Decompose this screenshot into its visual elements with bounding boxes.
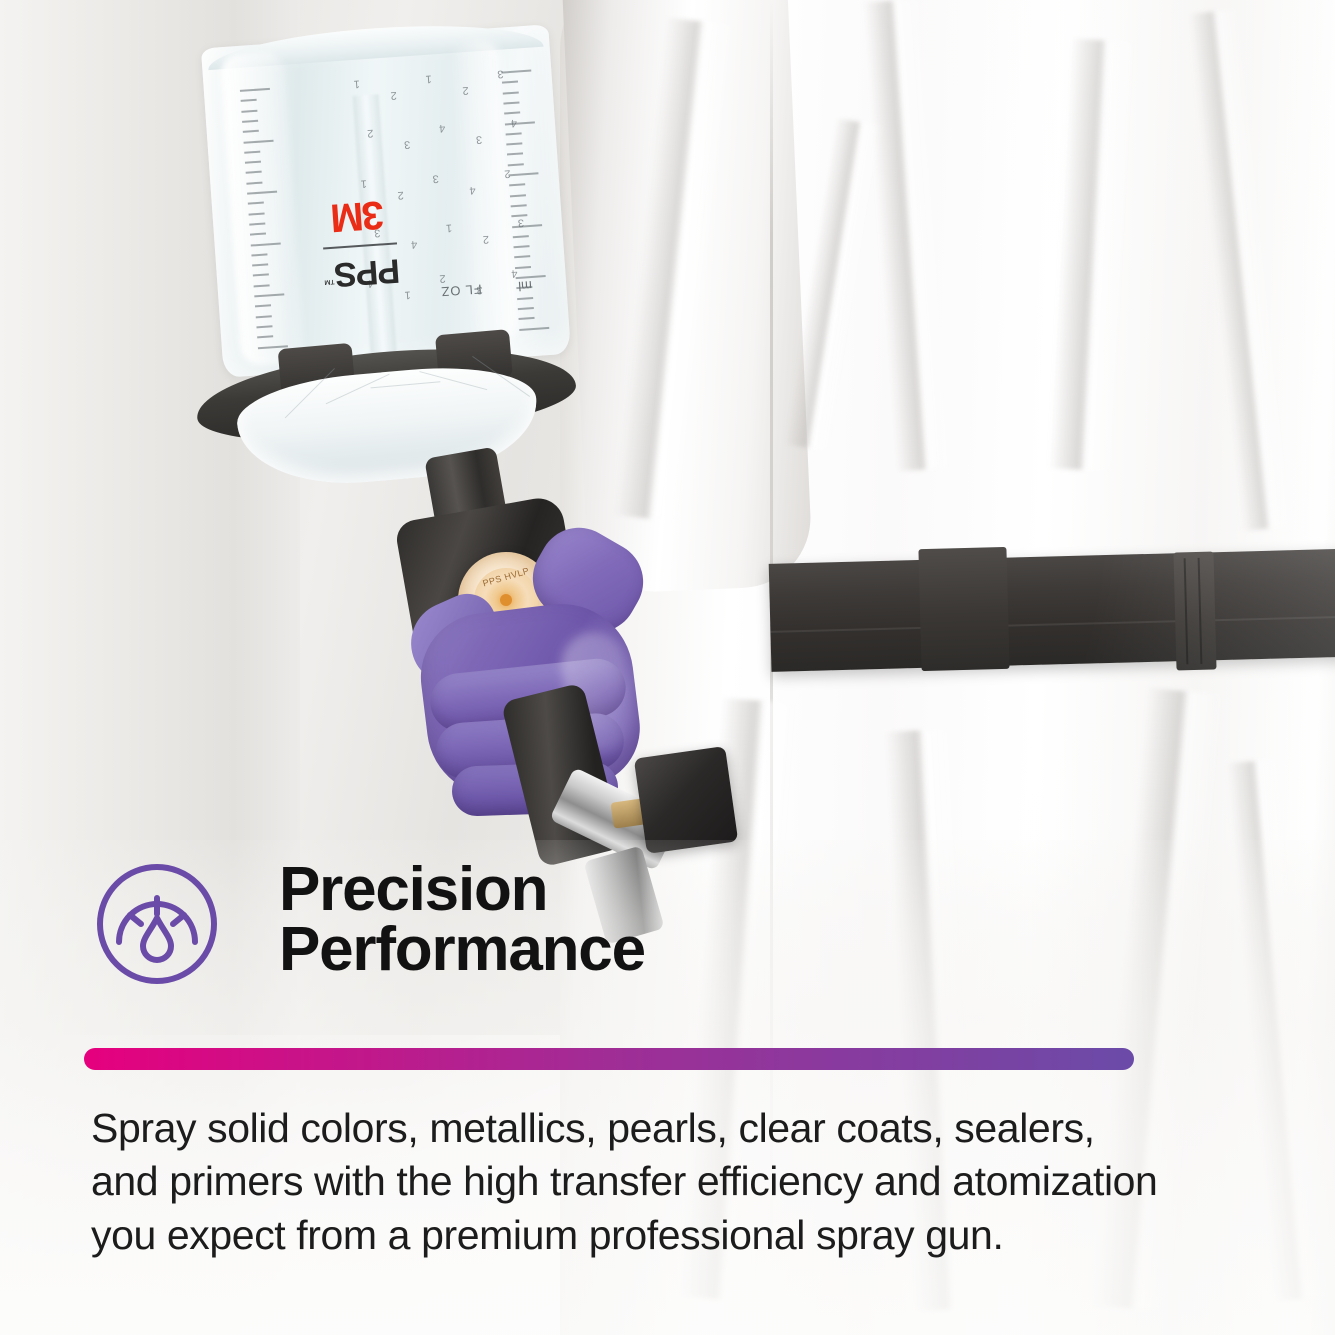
cup-unit-label-floz: FL OZ — [440, 282, 482, 300]
trademark-symbol: ™ — [324, 273, 336, 288]
cup-unit-label-ml: ml — [518, 278, 533, 294]
3m-logo: 3M — [302, 192, 415, 240]
feature-description: Spray solid colors, metallics, pearls, c… — [91, 1102, 1169, 1262]
cup-branding: PPS™ 3M — [295, 96, 418, 293]
precision-gauge-droplet-icon — [93, 860, 221, 988]
belt-keeper — [1173, 551, 1216, 670]
feature-header: Precision Performance — [93, 860, 645, 988]
feature-headline: Precision Performance — [279, 860, 645, 979]
brand-divider — [323, 242, 397, 249]
belt-buckle — [918, 547, 1009, 671]
marketing-banner: 1212323434123423412341234 PPS™ 3M FL OZ … — [0, 0, 1335, 1335]
utility-belt — [769, 548, 1335, 672]
gradient-divider — [84, 1048, 1134, 1070]
air-pressure-gauge — [634, 746, 738, 854]
pps-paint-cup: 1212323434123423412341234 PPS™ 3M FL OZ … — [201, 24, 571, 377]
feature-callout-overlay: Precision Performance Spray solid colors… — [0, 840, 1335, 1335]
